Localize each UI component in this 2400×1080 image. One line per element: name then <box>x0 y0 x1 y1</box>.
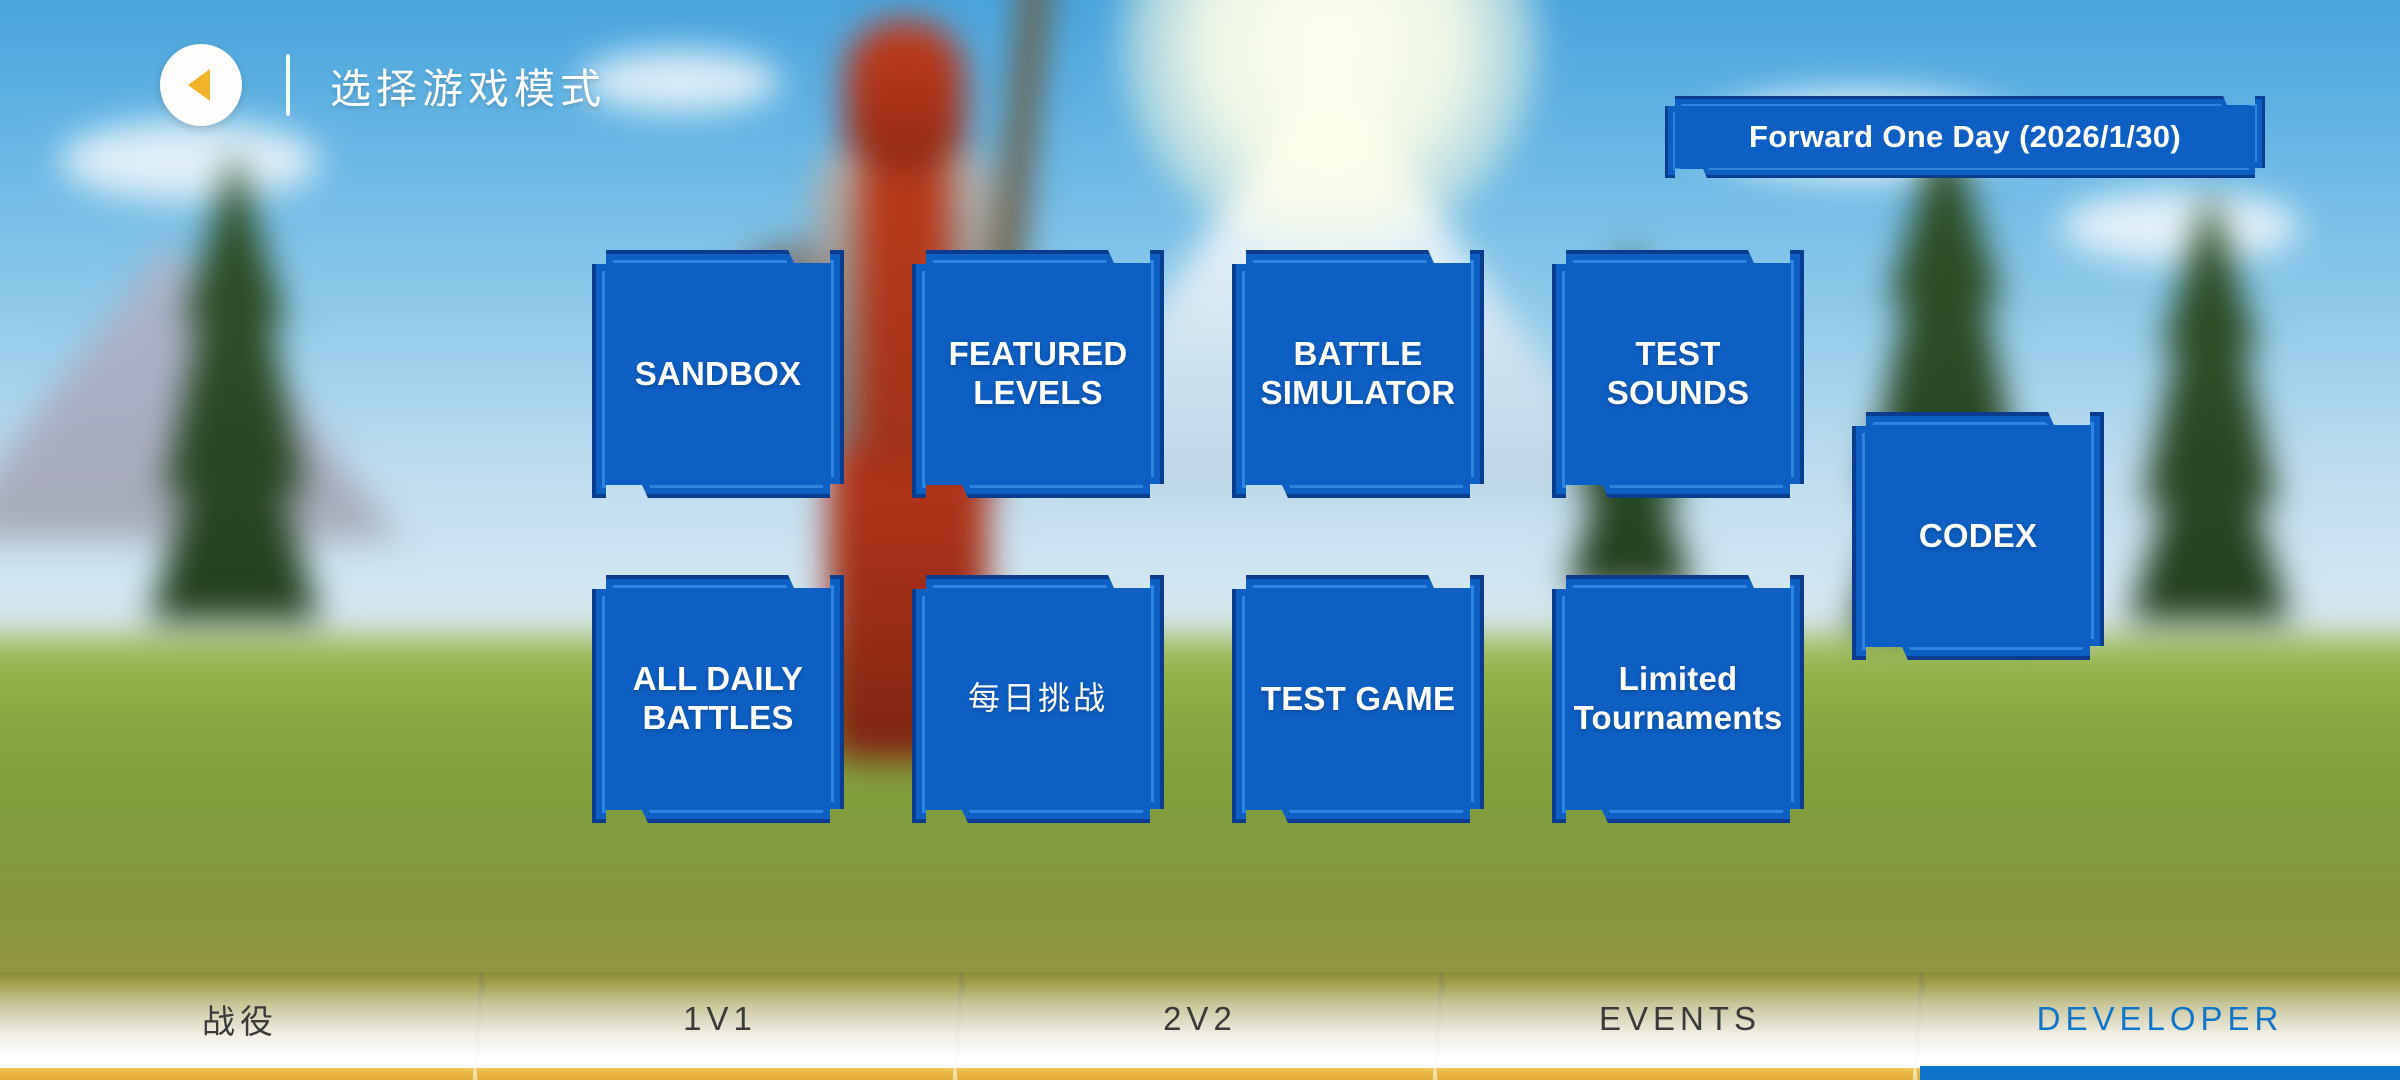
tab-underline <box>1440 1068 1920 1080</box>
mode-button-label: TEST GAME <box>1251 680 1465 719</box>
mode-button-label: ALL DAILYBATTLES <box>623 660 814 738</box>
mode-button-label: TESTSOUNDS <box>1597 335 1759 413</box>
tab-active-indicator <box>1920 1066 2400 1080</box>
mode-button-limited-tournaments[interactable]: LimitedTournaments <box>1552 575 1804 823</box>
tab-战役[interactable]: 战役 <box>0 972 480 1080</box>
tab-underline <box>480 1068 960 1080</box>
back-button[interactable] <box>160 44 242 126</box>
mode-button-label: CODEX <box>1909 517 2047 556</box>
forward-one-day-button[interactable]: Forward One Day (2026/1/30) <box>1665 96 2265 178</box>
mode-button-featured-levels[interactable]: FEATUREDLEVELS <box>912 250 1164 498</box>
mode-button-all-daily-battles[interactable]: ALL DAILYBATTLES <box>592 575 844 823</box>
mode-button-test-game[interactable]: TEST GAME <box>1232 575 1484 823</box>
tab-events[interactable]: EVENTS <box>1440 972 1920 1080</box>
bottom-tab-bar: 战役1V12V2EVENTSDEVELOPER <box>0 972 2400 1080</box>
tab-label: 2V2 <box>1163 1000 1237 1038</box>
header-divider <box>286 54 290 116</box>
mode-button-label: SANDBOX <box>625 355 811 394</box>
mode-button-codex[interactable]: CODEX <box>1852 412 2104 660</box>
tab-developer[interactable]: DEVELOPER <box>1920 972 2400 1080</box>
mode-button-test-sounds[interactable]: TESTSOUNDS <box>1552 250 1804 498</box>
mode-button-label: LimitedTournaments <box>1564 660 1793 738</box>
mode-button-label: FEATUREDLEVELS <box>939 335 1138 413</box>
tab-1v1[interactable]: 1V1 <box>480 972 960 1080</box>
tab-underline <box>960 1068 1440 1080</box>
tab-underline <box>0 1068 480 1080</box>
page-title: 选择游戏模式 <box>330 55 606 115</box>
mode-button-label: 每日挑战 <box>958 680 1118 718</box>
tab-label: EVENTS <box>1599 1000 1761 1038</box>
mode-button-每日挑战[interactable]: 每日挑战 <box>912 575 1164 823</box>
mode-button-battle-simulator[interactable]: BATTLESIMULATOR <box>1232 250 1484 498</box>
forward-one-day-label: Forward One Day (2026/1/30) <box>1749 119 2181 155</box>
tab-2v2[interactable]: 2V2 <box>960 972 1440 1080</box>
tab-label: 1V1 <box>683 1000 757 1038</box>
tab-label: 战役 <box>202 995 278 1043</box>
mode-button-sandbox[interactable]: SANDBOX <box>592 250 844 498</box>
back-triangle-icon <box>188 69 210 101</box>
game-mode-select-screen: 选择游戏模式 Forward One Day (2026/1/30) SANDB… <box>0 0 2400 1080</box>
mode-button-label: BATTLESIMULATOR <box>1251 335 1466 413</box>
tab-label: DEVELOPER <box>2037 1000 2284 1038</box>
